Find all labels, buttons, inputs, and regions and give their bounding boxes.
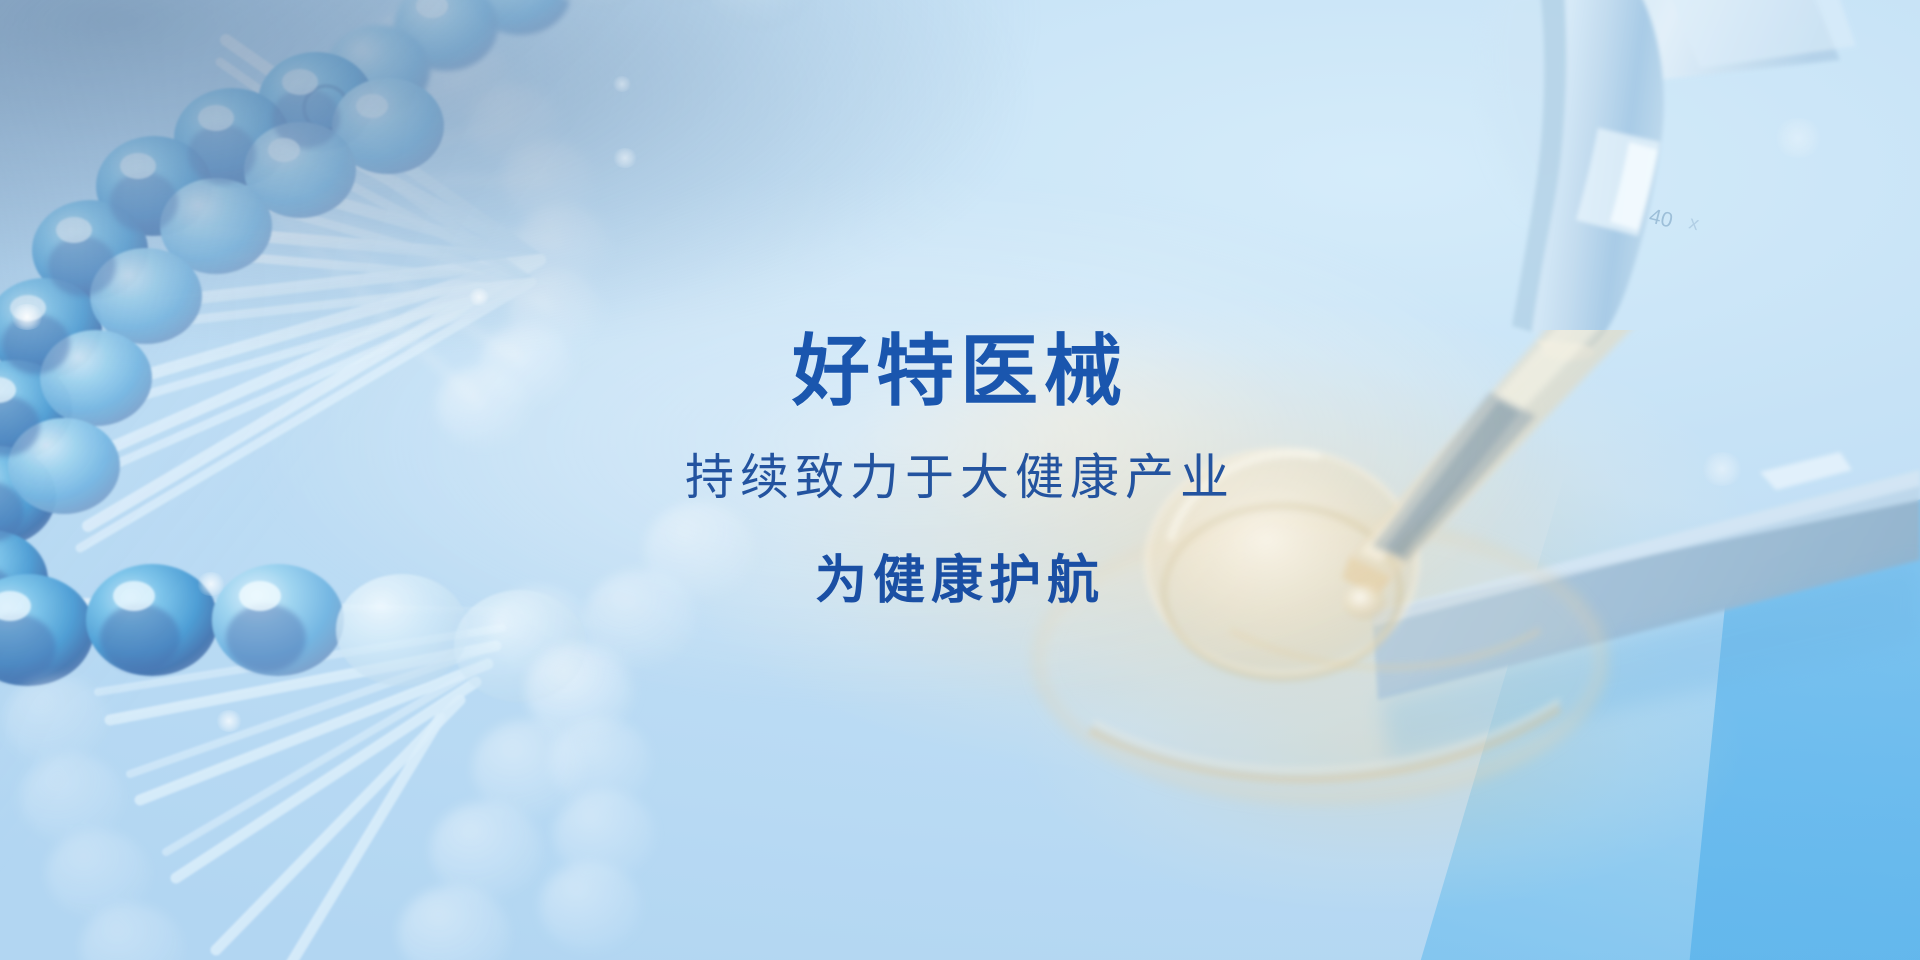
page-tagline: 为健康护航 bbox=[0, 555, 1920, 607]
bokeh-speck bbox=[1772, 118, 1824, 158]
svg-text:x: x bbox=[1687, 212, 1702, 235]
bokeh-speck bbox=[612, 76, 632, 92]
microscope-magnification-label: 40 bbox=[1647, 205, 1675, 233]
page-subtitle: 持续致力于大健康产业 bbox=[0, 454, 1920, 503]
bokeh-speck bbox=[468, 288, 490, 306]
page-title: 好特医械 bbox=[0, 332, 1920, 410]
bokeh-speck bbox=[612, 148, 638, 168]
bokeh-speck bbox=[10, 304, 44, 330]
hero-banner: 40 x bbox=[0, 0, 1920, 960]
hero-text-block: 好特医械 持续致力于大健康产业 为健康护航 bbox=[0, 332, 1920, 607]
bokeh-speck bbox=[215, 710, 243, 732]
